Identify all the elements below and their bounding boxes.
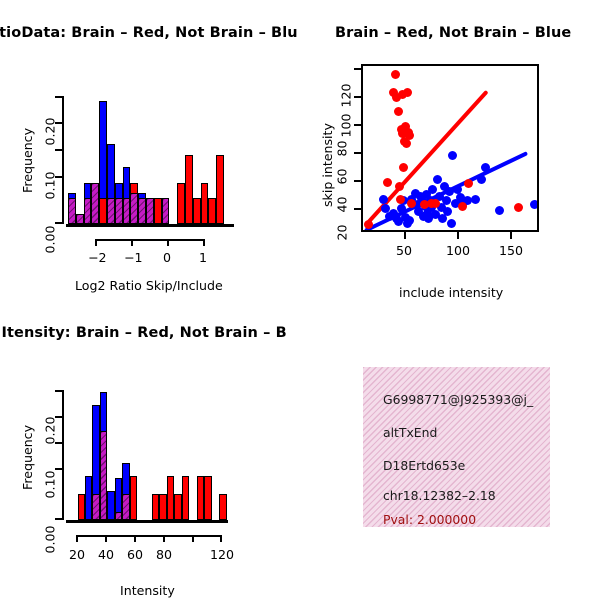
bar-overlap [107, 198, 115, 224]
scatter-point-brain [399, 163, 408, 172]
scatter-point-brain [394, 107, 403, 116]
scatter-point-notbrain [447, 219, 456, 228]
scatter-point-brain [383, 178, 392, 187]
bar-brain [154, 198, 162, 224]
intensity-x-baseline [66, 520, 228, 523]
scatter-y-tickmark-60 [354, 152, 361, 154]
scatter-y-tick-40: 40 [335, 196, 350, 212]
scatter-title: Brain – Red, Not Brain – Blue [335, 25, 571, 41]
intensity-x-tick-120: 120 [210, 547, 234, 562]
panel-ratio-histogram: RatioData: Brain – Red, Not Brain – Blu … [0, 0, 300, 300]
bar-brain [208, 198, 216, 224]
bar-brain [177, 183, 185, 224]
ratio-x-tickmark-4 [203, 239, 205, 246]
ratio-x-tick-0: 0 [163, 250, 171, 265]
scatter-y-tick-60: 60 [335, 168, 350, 184]
bar-overlap [115, 198, 123, 224]
bar-overlap [76, 214, 84, 224]
ratio-x-tick-1: 1 [199, 250, 207, 265]
bar-brain [167, 476, 175, 520]
scatter-y-tickmark-100 [354, 96, 361, 98]
bar-brain [219, 494, 227, 520]
intensity-x-tick-80: 80 [156, 547, 172, 562]
ratio-y-axis-line [62, 96, 64, 224]
ratio-x-tickmark-3 [167, 239, 169, 246]
scatter-y-tick-100: 100 [339, 113, 354, 137]
scatter-point-brain [395, 182, 404, 191]
bar-overlap [68, 198, 76, 224]
bar-brain [152, 494, 160, 520]
intensity-x-tick-20: 20 [69, 547, 85, 562]
intensity-x-tick-60: 60 [127, 547, 143, 562]
scatter-x-tick-150: 150 [499, 243, 523, 258]
scatter-x-tick-100: 100 [446, 243, 470, 258]
scatter-point-notbrain [495, 206, 504, 215]
ratio-y-tick-0.00: 0.00 [43, 225, 58, 253]
scatter-y-tick-20: 20 [335, 224, 350, 240]
ratio-y-tickmark-major-1 [55, 96, 62, 98]
ratio-histogram-title: RatioData: Brain – Red, Not Brain – Blu [0, 25, 298, 41]
intensity-y-tick-0.20: 0.20 [43, 416, 58, 444]
info-line-event-type: altTxEnd [383, 425, 437, 440]
bar-brain [185, 155, 193, 224]
ratio-x-tickmark-1 [95, 239, 97, 246]
bar-overlap [122, 494, 130, 520]
bar-brain [197, 476, 205, 520]
scatter-point-brain [407, 199, 416, 208]
scatter-point-notbrain [442, 196, 451, 205]
intensity-x-tickmark-100 [192, 535, 194, 542]
scatter-y-tickmark-80 [354, 124, 361, 126]
info-line-pval: Pval: 2.000000 [383, 512, 476, 527]
bar-overlap [91, 183, 99, 224]
scatter-x-tick-50: 50 [396, 243, 412, 258]
bar-overlap [92, 494, 100, 520]
scatter-point-brain [391, 70, 400, 79]
intensity-histogram-title: ne Itensity: Brain – Red, Not Brain – B [0, 325, 287, 341]
ratio-histogram-bars [68, 98, 232, 224]
intensity-y-axis-line [62, 390, 64, 520]
scatter-point-notbrain [471, 195, 480, 204]
bar-notbrain [107, 491, 115, 520]
scatter-y-tickmark-20 [354, 208, 361, 210]
ratio-x-axis-line [95, 239, 204, 241]
scatter-xlabel: include intensity [399, 285, 503, 300]
panel-intensity-histogram: ne Itensity: Brain – Red, Not Brain – B … [0, 300, 300, 600]
bar-brain [182, 476, 190, 520]
intensity-y-tick-0.00: 0.00 [43, 525, 58, 553]
bar-brain [99, 198, 107, 224]
scatter-point-brain [403, 88, 412, 97]
scatter-x-tickmark-50 [404, 232, 406, 239]
ratio-histogram-xlabel: Log2 Ratio Skip/Include [75, 278, 223, 293]
scatter-point-brain [514, 203, 523, 212]
scatter-point-notbrain [477, 175, 486, 184]
scatter-x-tickmark-150 [510, 232, 512, 239]
ratio-y-tickmark-major-2 [55, 149, 62, 151]
scatter-point-notbrain [379, 195, 388, 204]
intensity-y-tickmark-minor-1 [55, 416, 62, 418]
bar-overlap [138, 198, 146, 224]
scatter-point-brain [405, 131, 414, 140]
intensity-y-tickmark-major-2 [55, 442, 62, 444]
bar-overlap [100, 431, 108, 520]
intensity-x-tickmark-40 [105, 535, 107, 542]
info-line-gene-symbol: D18Ertd653e [383, 458, 465, 473]
ratio-x-baseline [66, 224, 234, 227]
scatter-point-notbrain [433, 175, 442, 184]
ratio-histogram-ylabel: Frequency [20, 128, 35, 193]
scatter-y-tick-120: 120 [339, 83, 354, 107]
ratio-x-tick--2: −2 [88, 250, 107, 265]
intensity-y-tickmark-major-3 [55, 518, 62, 520]
scatter-point-notbrain [530, 200, 537, 209]
intensity-histogram-ylabel: Frequency [20, 425, 35, 490]
bar-brain [130, 476, 138, 520]
bar-brain [174, 494, 182, 520]
bar-overlap [115, 512, 123, 520]
intensity-x-tickmark-80 [163, 535, 165, 542]
ratio-y-tickmark-major-3 [55, 222, 62, 224]
intensity-x-tick-40: 40 [98, 547, 114, 562]
ratio-x-tickmark-2 [131, 239, 133, 246]
info-line-coordinates: chr18.12382–2.18 [383, 488, 496, 503]
scatter-y-tickmark-120 [354, 68, 361, 70]
info-line-gene-id: G6998771@J925393@j_ [383, 392, 533, 407]
intensity-y-tickmark-major-1 [55, 390, 62, 392]
bar-brain [193, 198, 201, 224]
bar-brain [159, 494, 167, 520]
bar-brain [78, 494, 86, 520]
ratio-y-tickmark-minor-2 [55, 176, 62, 178]
ratio-y-tickmark-minor-1 [55, 122, 62, 124]
intensity-x-tickmark-20 [76, 535, 78, 542]
bar-overlap [84, 198, 92, 224]
bar-brain [201, 183, 209, 224]
intensity-histogram-xlabel: Intensity [120, 583, 175, 598]
scatter-x-tickmark-100 [457, 232, 459, 239]
scatter-point-brain [458, 202, 467, 211]
scatter-ylabel: skip intensity [320, 123, 335, 207]
intensity-y-tickmark-minor-2 [55, 468, 62, 470]
panel-intensity-scatter: Brain – Red, Not Brain – Blue skip inten… [300, 0, 600, 300]
scatter-point-brain [396, 195, 405, 204]
scatter-y-tick-80: 80 [335, 140, 350, 156]
bar-overlap [146, 198, 154, 224]
scatter-point-brain [431, 199, 440, 208]
gene-info-box: G6998771@J925393@j_ altTxEnd D18Ertd653e… [363, 367, 550, 527]
intensity-x-axis-line [76, 535, 222, 537]
intensity-x-tickmark-60 [134, 535, 136, 542]
bar-overlap [130, 193, 138, 224]
bar-overlap [162, 198, 170, 224]
scatter-point-notbrain [405, 216, 414, 225]
bar-notbrain [85, 476, 93, 520]
scatter-y-tickmark-40 [354, 180, 361, 182]
scatter-plot-area [363, 66, 537, 230]
scatter-point-brain [402, 139, 411, 148]
scatter-point-notbrain [443, 207, 452, 216]
scatter-point-notbrain [448, 151, 457, 160]
ratio-x-tick--1: −1 [124, 250, 143, 265]
intensity-y-tick-0.10: 0.10 [43, 470, 58, 498]
bar-brain [216, 155, 224, 224]
bar-brain [204, 476, 212, 520]
intensity-x-tickmark-120 [220, 535, 222, 542]
intensity-histogram-bars [70, 392, 228, 520]
scatter-point-brain [464, 179, 473, 188]
bar-overlap [123, 198, 131, 224]
